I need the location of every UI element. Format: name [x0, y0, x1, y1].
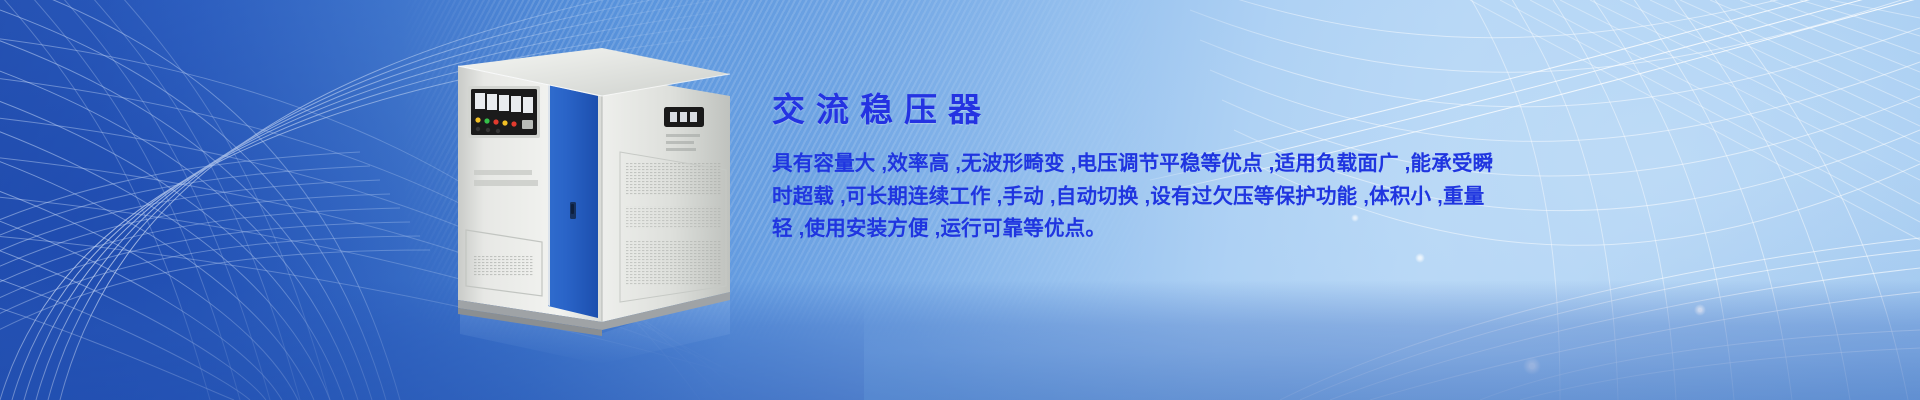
- description-line-1: 具有容量大 ,效率高 ,无波形畸变 ,电压调节平稳等优点 ,适用负载面广 ,能承…: [772, 148, 1412, 181]
- promo-banner: 交流稳压器 具有容量大 ,效率高 ,无波形畸变 ,电压调节平稳等优点 ,适用负载…: [0, 0, 1920, 400]
- banner-description: 具有容量大 ,效率高 ,无波形畸变 ,电压调节平稳等优点 ,适用负载面广 ,能承…: [772, 148, 1412, 246]
- product-image: [430, 34, 740, 334]
- description-line-2: 时超载 ,可长期连续工作 ,手动 ,自动切换 ,设有过欠压等保护功能 ,体积小 …: [772, 181, 1412, 214]
- banner-copy: 交流稳压器 具有容量大 ,效率高 ,无波形畸变 ,电压调节平稳等优点 ,适用负载…: [772, 92, 1472, 246]
- floor-reflection-band: [864, 280, 1920, 400]
- description-line-3: 轻 ,使用安装方便 ,运行可靠等优点。: [772, 213, 1412, 246]
- banner-headline: 交流稳压器: [772, 92, 1472, 128]
